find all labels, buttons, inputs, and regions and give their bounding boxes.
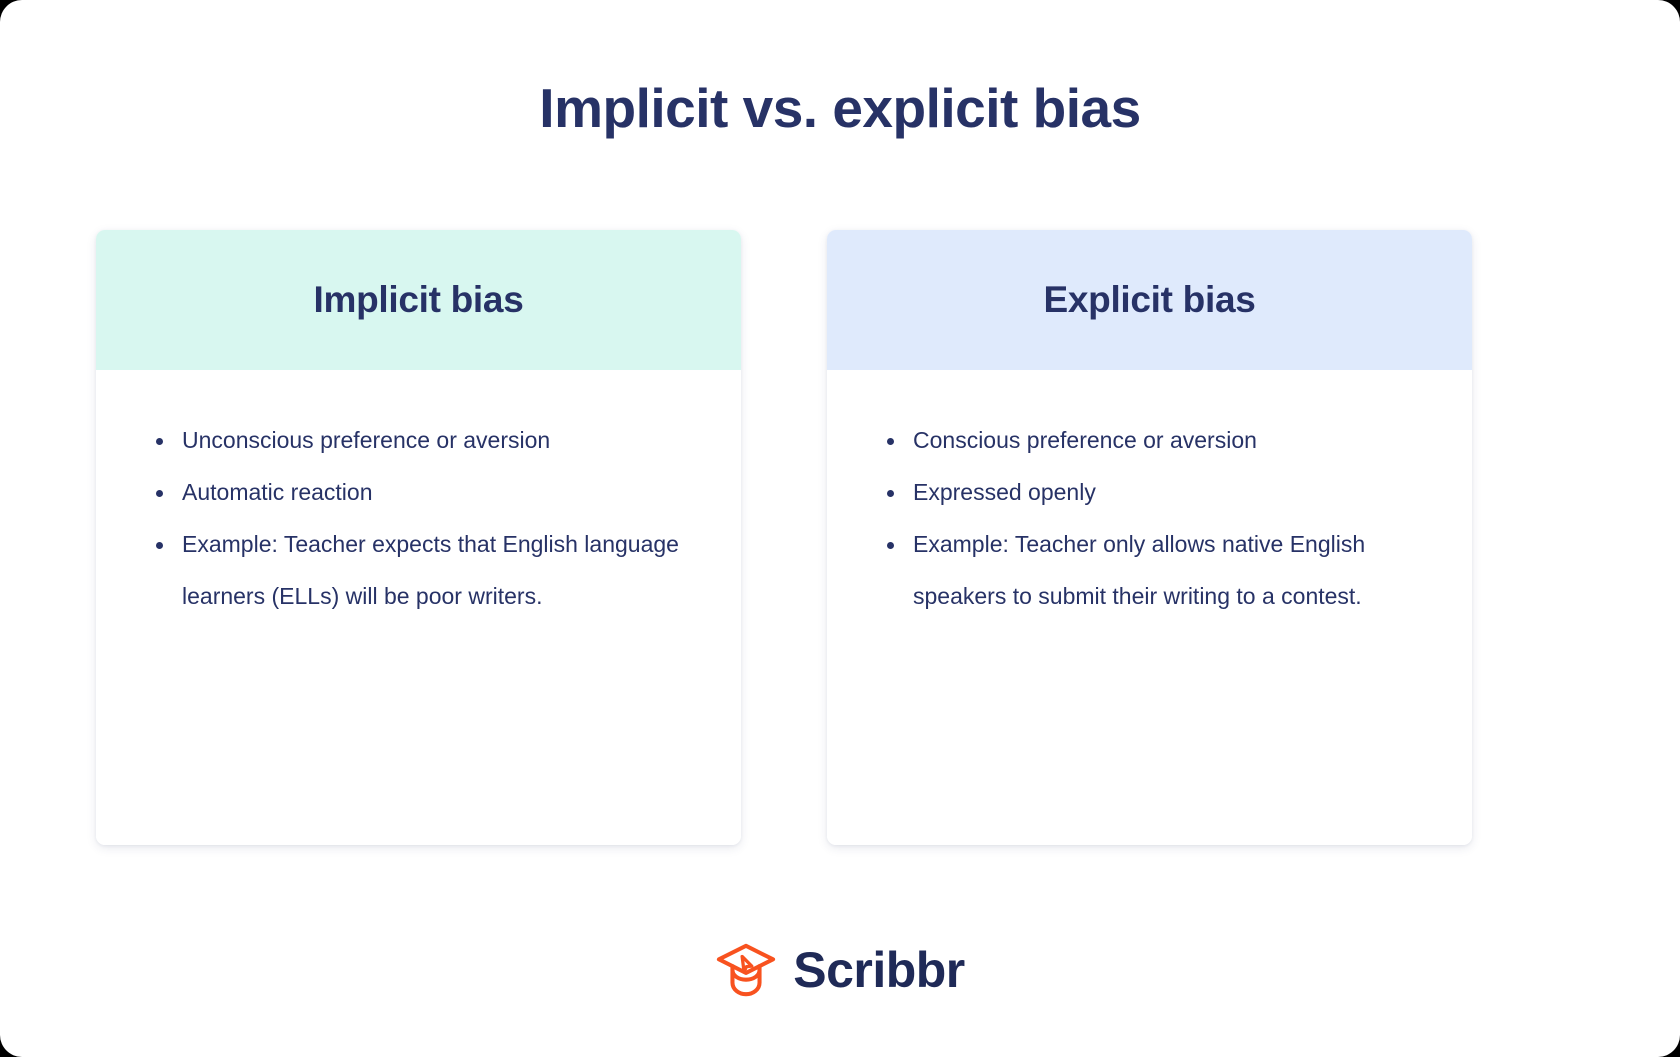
list-item: Example: Teacher only allows native Engl…	[913, 518, 1428, 622]
list-item: Automatic reaction	[182, 466, 697, 518]
list-item: Unconscious preference or aversion	[182, 414, 697, 466]
page-title: Implicit vs. explicit bias	[0, 72, 1680, 144]
list-item: Conscious preference or aversion	[913, 414, 1428, 466]
bullet-list-implicit: Unconscious preference or aversion Autom…	[140, 414, 697, 622]
comparison-cards: Implicit bias Unconscious preference or …	[96, 230, 1472, 845]
card-header-title-implicit: Implicit bias	[314, 279, 524, 321]
card-body-explicit: Conscious preference or aversion Express…	[827, 370, 1472, 845]
footer-branding: Scribbr	[0, 941, 1680, 999]
card-header-explicit: Explicit bias	[827, 230, 1472, 370]
card-explicit-bias: Explicit bias Conscious preference or av…	[827, 230, 1472, 845]
card-implicit-bias: Implicit bias Unconscious preference or …	[96, 230, 741, 845]
list-item: Expressed openly	[913, 466, 1428, 518]
infographic-canvas: Implicit vs. explicit bias Implicit bias…	[0, 0, 1680, 1057]
brand-wordmark: Scribbr	[793, 945, 965, 995]
card-header-implicit: Implicit bias	[96, 230, 741, 370]
card-body-implicit: Unconscious preference or aversion Autom…	[96, 370, 741, 845]
list-item: Example: Teacher expects that English la…	[182, 518, 697, 622]
card-header-title-explicit: Explicit bias	[1043, 279, 1255, 321]
graduation-cap-cursor-icon	[715, 941, 777, 999]
bullet-list-explicit: Conscious preference or aversion Express…	[871, 414, 1428, 622]
